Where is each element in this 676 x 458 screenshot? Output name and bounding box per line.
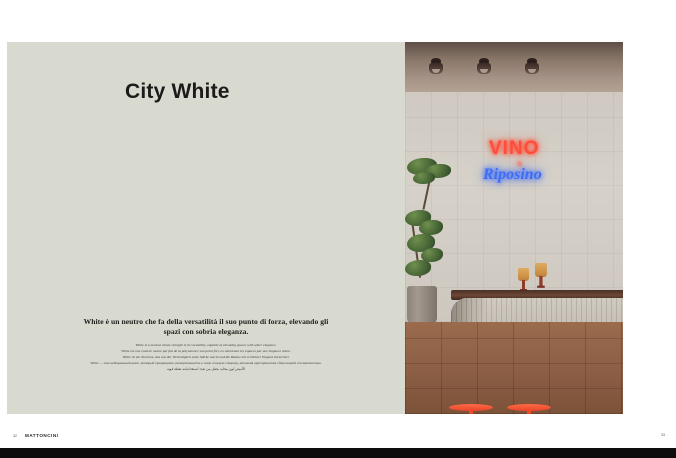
planter [407,286,437,324]
ceiling-spotlight-icon [428,58,444,75]
page-number-left: 32 [13,434,17,438]
copy-block: White è un neutro che fa della versatili… [47,317,365,372]
brand-name: MATTONCINI [25,433,58,438]
bottom-bar [0,448,676,458]
ceiling-spotlight-icon [524,58,540,75]
potted-plant [405,162,457,324]
neon-sign: VINO & Riposino [483,138,559,196]
catalog-page-spread: City White White è un neutro che fa dell… [0,0,676,448]
headline-italian: White è un neutro che fa della versatili… [76,317,336,337]
translation-arabic: الأبيض لون محايد يجعل من تعدد استخداماته… [131,366,281,372]
page-number-right: 33 [661,433,665,437]
page-content: City White White è un neutro che fa dell… [7,42,623,414]
neon-text-vino: VINO [489,138,539,160]
ceiling-spotlight-icon [476,58,492,75]
left-text-panel: City White White è un neutro che fa dell… [7,42,405,414]
floor [405,322,623,414]
neon-text-riposino: Riposino [483,166,542,184]
page-title: City White [125,80,230,104]
footer-left: 32 MATTONCINI [13,433,58,438]
interior-photograph: VINO & Riposino [405,42,623,414]
